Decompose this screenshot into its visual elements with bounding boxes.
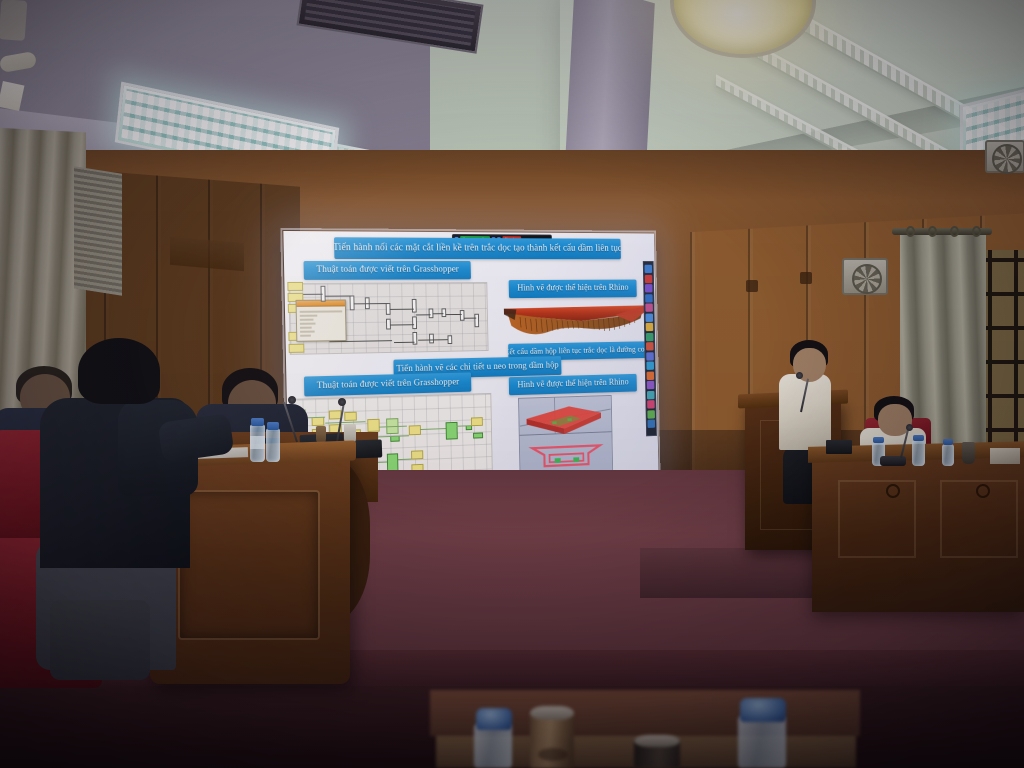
slide-banner-algorithm-top: Thuật toán được viết trên Grasshopper	[304, 261, 471, 280]
taskbar-icon-app[interactable]	[645, 313, 653, 321]
gh-node	[287, 282, 303, 291]
taskbar-icon-app[interactable]	[646, 332, 654, 340]
conference-room-scene: You are presenting Stop share Tiến hành …	[0, 0, 1024, 768]
bottle-cap[interactable]	[943, 439, 953, 445]
curtain-ring	[928, 226, 937, 237]
rhino-box-girder-model	[519, 396, 612, 475]
taskbar-icon-app[interactable]	[645, 294, 653, 302]
desk-handle-ring[interactable]	[886, 484, 900, 498]
bottle-cap[interactable]	[913, 435, 924, 441]
papers[interactable]	[990, 448, 1020, 464]
taskbar-icon-app[interactable]	[646, 361, 654, 369]
taskbar-icon-app[interactable]	[646, 352, 654, 360]
taskbar-icon-app[interactable]	[645, 274, 653, 282]
water-bottle[interactable]	[912, 440, 925, 466]
person-foreground-left-leg	[50, 600, 150, 680]
foreground-can-lid[interactable]	[634, 735, 680, 747]
bottle-label	[250, 436, 265, 449]
gh-node	[412, 332, 417, 345]
gh-node	[411, 450, 423, 459]
gh-node	[474, 314, 479, 327]
water-bottle[interactable]	[942, 444, 954, 466]
bottle-cap[interactable]	[267, 422, 279, 430]
curtain-ring	[972, 226, 981, 237]
gh-node	[412, 316, 417, 329]
curtain-ring	[906, 226, 915, 237]
gh-node	[471, 417, 483, 426]
foreground-can-lid[interactable]	[530, 706, 574, 720]
grasshopper-canvas-top	[288, 282, 488, 355]
foreground-water-bottle[interactable]	[738, 716, 786, 768]
bottle-cap[interactable]	[873, 437, 884, 443]
wall-bracket	[800, 272, 812, 284]
taskbar-icon-app[interactable]	[647, 381, 655, 390]
taskbar-icon-app[interactable]	[647, 410, 655, 419]
microphone-head	[338, 398, 346, 406]
taskbar-icon-app[interactable]	[647, 400, 655, 409]
desk-handle-ring[interactable]	[976, 484, 990, 498]
taskbar-icon-app[interactable]	[647, 371, 655, 379]
person-foreground-left-hair	[78, 338, 160, 404]
desk-left-panel-inset	[178, 490, 320, 640]
gh-node	[344, 412, 357, 421]
bottle-cap[interactable]	[251, 418, 264, 426]
microphone-head	[288, 396, 296, 404]
gh-node	[367, 419, 380, 432]
exhaust-fan-icon	[842, 258, 888, 295]
taskbar-icon-app[interactable]	[645, 303, 653, 311]
microphone-head	[796, 372, 803, 379]
gh-node	[473, 432, 483, 438]
desk-right-panel-inset	[838, 480, 916, 558]
taskbar-icon-app[interactable]	[646, 323, 654, 331]
water-bottle[interactable]	[266, 428, 280, 462]
exhaust-fan-icon	[985, 140, 1024, 173]
gh-node	[312, 417, 325, 426]
window-blinds	[74, 166, 122, 296]
wall-bracket	[746, 280, 758, 292]
slide-banner-rhino-top: Hình vẽ được thể hiện trên Rhino	[509, 280, 637, 299]
person-mic-center-shirt	[0, 0, 27, 41]
gh-panel-dialog[interactable]	[296, 299, 347, 341]
gh-node	[289, 344, 305, 353]
taskbar-icon-app[interactable]	[647, 419, 655, 428]
gh-node	[448, 335, 453, 344]
gh-node	[446, 422, 458, 440]
foreground-water-bottle[interactable]	[474, 724, 512, 768]
cup	[962, 442, 975, 464]
taskbar-icon-app[interactable]	[647, 390, 655, 399]
foreground-bottle-cap[interactable]	[476, 708, 512, 730]
rhino-girder-render	[502, 300, 648, 341]
nameplate	[826, 440, 852, 454]
gh-node	[460, 310, 465, 321]
windows-taskbar[interactable]	[643, 261, 657, 436]
gh-node	[409, 425, 421, 435]
slide-banner-title: Tiến hành nối các mặt cắt liền kề trên t…	[334, 237, 621, 259]
microphone-head	[906, 424, 913, 431]
gh-dialog-body	[297, 306, 346, 340]
slide-banner-algorithm-bottom: Thuật toán được viết trên Grasshopper	[304, 372, 471, 396]
foreground-can-label	[538, 748, 568, 761]
foreground-bottle-cap[interactable]	[740, 698, 786, 722]
taskbar-icon-app[interactable]	[645, 265, 653, 273]
rhino-viewport	[518, 395, 613, 476]
gh-node	[412, 299, 417, 313]
taskbar-icon-app[interactable]	[645, 284, 653, 292]
curtain-ring	[950, 226, 959, 237]
slide-banner-rhino-bottom: Hình vẽ được thể hiện trên Rhino	[509, 374, 637, 395]
taskbar-icon-app[interactable]	[646, 342, 654, 350]
